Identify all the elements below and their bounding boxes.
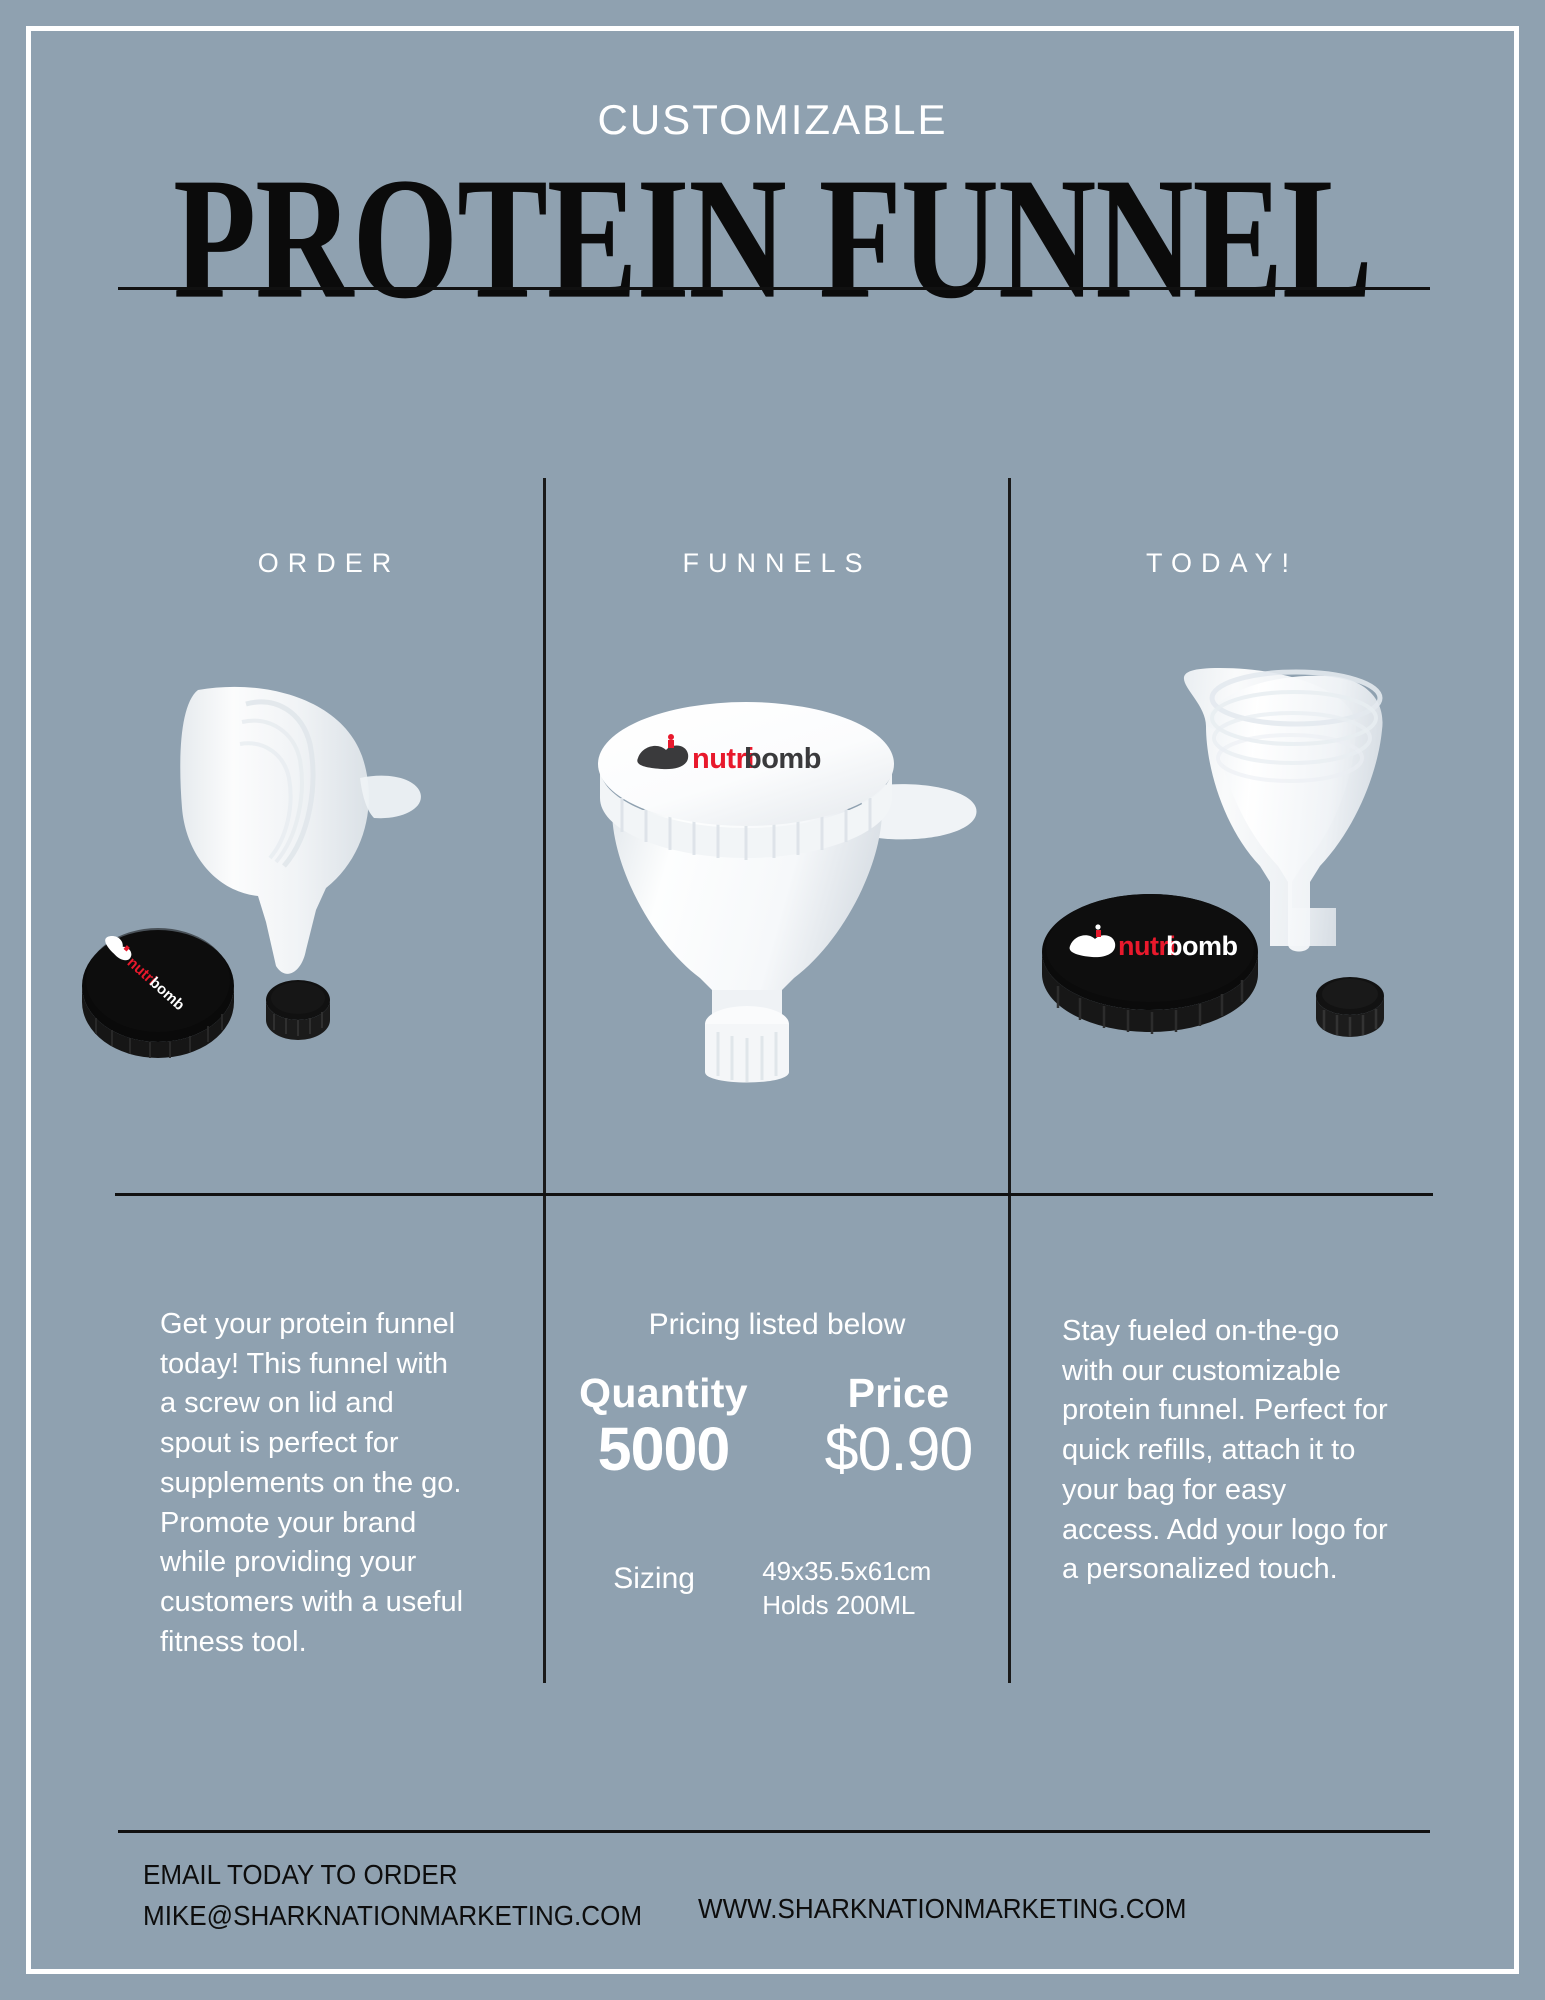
footer-contact-block: EMAIL TODAY TO ORDER MIKE@SHARKNATIONMAR… — [143, 1855, 642, 1936]
pricing-header-price: Price — [781, 1370, 1016, 1417]
left-description-text: Get your protein funnel today! This funn… — [160, 1305, 470, 1662]
pricing-intro-text: Pricing listed below — [546, 1308, 1008, 1342]
right-description-text: Stay fueled on-the-go with our customiza… — [1062, 1312, 1392, 1590]
column-header-funnels: FUNNELS — [546, 548, 1008, 579]
funnel-lid-black-shape: nutri bomb — [82, 928, 234, 1058]
sizing-dimensions: 49x35.5x61cm — [762, 1554, 1016, 1588]
sizing-capacity: Holds 200ML — [762, 1588, 1016, 1622]
pricing-table: Quantity Price 5000 $0.90 — [546, 1370, 1016, 1483]
footer-divider — [118, 1830, 1430, 1833]
header-divider — [118, 287, 1430, 290]
page-title: PROTEIN FUNNEL — [0, 152, 1545, 326]
spout-cap-black-shape — [266, 980, 330, 1040]
product-image-funnel-assembled: nutri bomb — [560, 690, 990, 1130]
svg-text:bomb: bomb — [1166, 931, 1238, 961]
pricing-header-quantity: Quantity — [546, 1370, 781, 1417]
column-divider-left — [543, 478, 546, 1683]
column-divider-right — [1008, 478, 1011, 1683]
kicker-text: CUSTOMIZABLE — [0, 96, 1545, 144]
pricing-value-price: $0.90 — [781, 1417, 1016, 1483]
sizing-values: 49x35.5x61cm Holds 200ML — [762, 1554, 1016, 1623]
product-image-funnel-parts: nutri bomb — [1020, 660, 1420, 1080]
sizing-row: Sizing 49x35.5x61cm Holds 200ML — [546, 1554, 1016, 1623]
pricing-header-row: Quantity Price — [546, 1370, 1016, 1417]
sizing-label: Sizing — [546, 1554, 762, 1596]
pricing-value-quantity: 5000 — [546, 1417, 781, 1483]
pricing-value-row: 5000 $0.90 — [546, 1417, 1016, 1483]
spout-cap-white — [705, 1006, 789, 1083]
flyer-page: CUSTOMIZABLE PROTEIN FUNNEL ORDER FUNNEL… — [0, 0, 1545, 2000]
spout-cap-black-shape — [1316, 977, 1384, 1037]
funnel-body-shape — [180, 687, 421, 974]
column-header-order: ORDER — [115, 548, 543, 579]
product-image-funnel-open: nutri bomb — [70, 660, 450, 1080]
funnel-lid-black-shape: nutri bomb — [1042, 894, 1258, 1034]
footer-website[interactable]: WWW.SHARKNATIONMARKETING.COM — [698, 1893, 1186, 1925]
footer-email-address[interactable]: MIKE@SHARKNATIONMARKETING.COM — [143, 1896, 642, 1937]
mid-horizontal-divider — [115, 1193, 1433, 1196]
svg-text:bomb: bomb — [744, 743, 821, 775]
column-header-today: TODAY! — [1011, 548, 1433, 579]
footer-email-cta: EMAIL TODAY TO ORDER — [143, 1855, 642, 1896]
